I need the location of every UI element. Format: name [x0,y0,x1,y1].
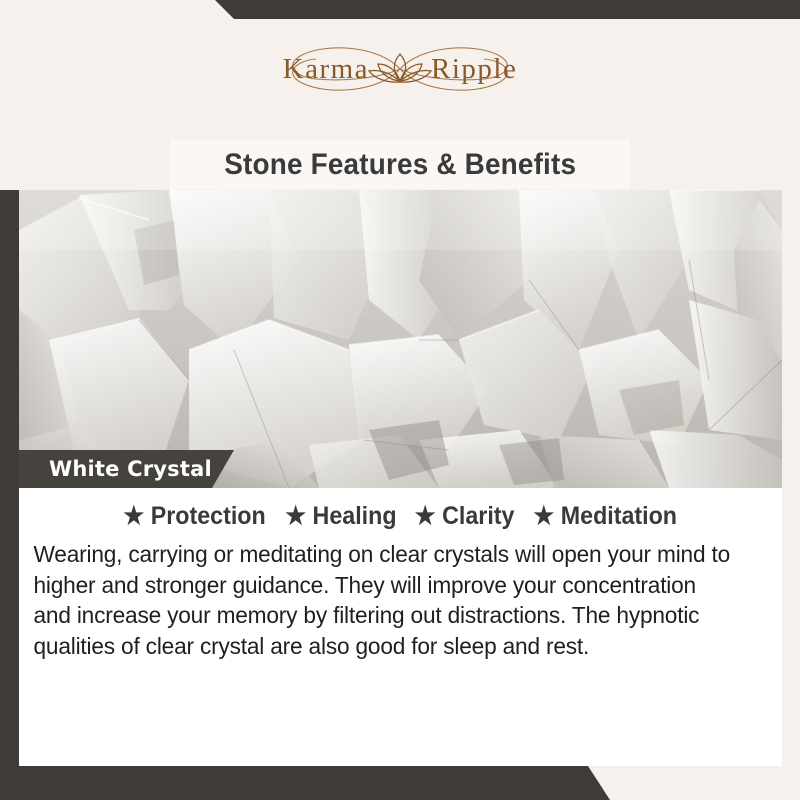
star-icon: ★ [415,504,436,529]
top-accent-band [0,0,800,19]
stone-photo [19,190,782,488]
poster-root: Karma Ripple Stone Features & Benefits [0,0,800,800]
star-icon: ★ [286,504,307,529]
benefit-label: Meditation [561,504,677,529]
benefit-label: Protection [151,504,266,529]
benefit-item: ★ Meditation [534,504,678,529]
benefit-item: ★ Protection [124,504,266,529]
stone-description: Wearing, carrying or meditating on clear… [19,539,755,661]
benefit-label: Clarity [442,504,514,529]
page-title: Stone Features & Benefits [224,148,576,182]
benefit-item: ★ Healing [286,504,397,529]
crystal-cluster-illustration [19,190,782,488]
brand-name-first: Karma [283,53,369,86]
benefit-item: ★ Clarity [415,504,515,529]
benefits-list: ★ Protection ★ Healing ★ Clarity ★ Medit… [19,488,782,529]
brand-name-second: Ripple [431,53,517,86]
bottom-accent-band [0,766,800,800]
brand-name: Karma Ripple [250,37,550,101]
content-panel: ★ Protection ★ Healing ★ Clarity ★ Medit… [19,488,782,766]
logo-graphic: Karma Ripple [250,37,550,101]
benefit-label: Healing [313,504,397,529]
stone-name-banner: White Crystal [19,450,234,488]
page-title-band: Stone Features & Benefits [170,140,630,189]
star-icon: ★ [534,504,555,529]
star-icon: ★ [124,504,145,529]
left-accent-bar [0,190,19,766]
brand-logo: Karma Ripple [0,36,800,102]
stone-name: White Crystal [49,457,212,481]
